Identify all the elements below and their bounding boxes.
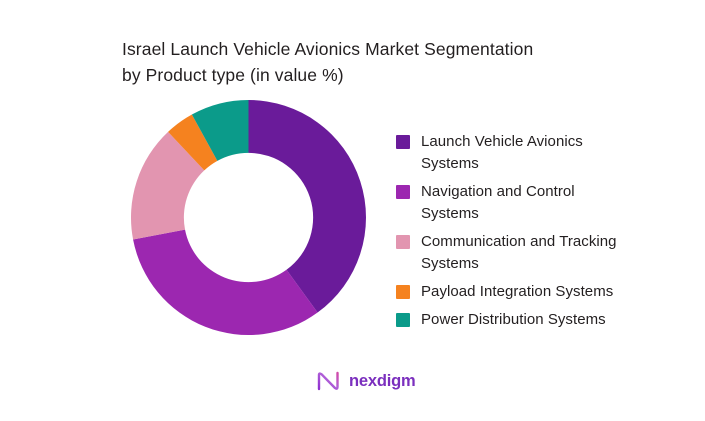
donut-slice[interactable] [133, 230, 317, 335]
legend-item[interactable]: Launch Vehicle Avionics Systems [396, 131, 646, 175]
chart-legend: Launch Vehicle Avionics SystemsNavigatio… [396, 131, 646, 337]
legend-item-label: Navigation and Control Systems [421, 181, 626, 225]
nexdigm-wordmark: nexdigm [349, 371, 415, 391]
legend-color-swatch [396, 313, 410, 327]
legend-color-swatch [396, 235, 410, 249]
donut-slice-group [131, 100, 366, 335]
legend-item-label: Power Distribution Systems [421, 309, 606, 331]
legend-color-swatch [396, 135, 410, 149]
legend-item[interactable]: Communication and Tracking Systems [396, 231, 646, 275]
legend-item[interactable]: Power Distribution Systems [396, 309, 646, 331]
legend-item-label: Payload Integration Systems [421, 281, 613, 303]
donut-chart-svg [131, 100, 366, 335]
legend-item[interactable]: Payload Integration Systems [396, 281, 646, 303]
donut-chart [131, 100, 366, 335]
nexdigm-logo: nexdigm [316, 369, 415, 393]
page-title: Israel Launch Vehicle Avionics Market Se… [122, 36, 622, 88]
legend-item-label: Communication and Tracking Systems [421, 231, 626, 275]
chart-page: Israel Launch Vehicle Avionics Market Se… [0, 0, 705, 421]
nexdigm-mark-icon [316, 371, 342, 391]
legend-item-label: Launch Vehicle Avionics Systems [421, 131, 626, 175]
legend-color-swatch [396, 285, 410, 299]
legend-color-swatch [396, 185, 410, 199]
legend-item[interactable]: Navigation and Control Systems [396, 181, 646, 225]
